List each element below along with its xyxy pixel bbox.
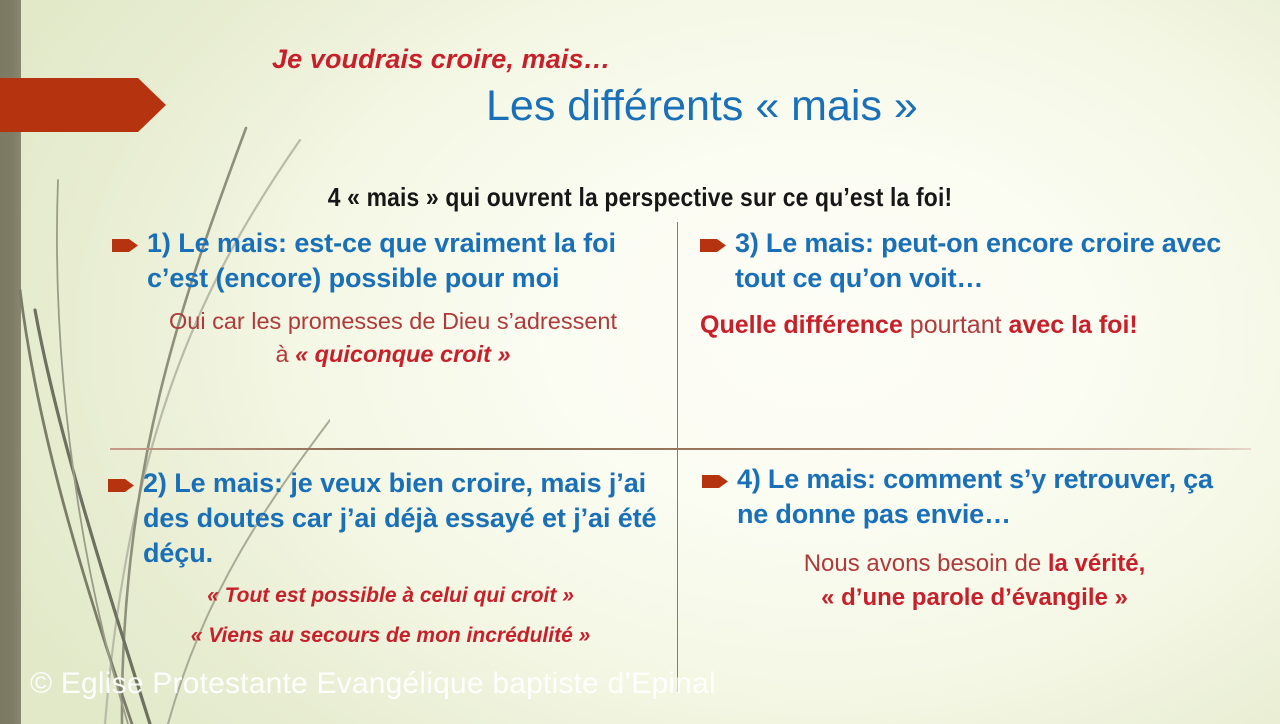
quadrant-1-body-line-1: Oui car les promesses de Dieu s’adressen… <box>114 306 672 337</box>
quadrant-1-heading-row: 1) Le mais: est-ce que vraiment la foi c… <box>112 226 672 296</box>
quadrant-4-body-emphasis: la vérité, <box>1048 550 1145 577</box>
red-pennant-bullet-icon <box>112 238 138 253</box>
quadrant-4-body: Nous avons besoin de la vérité, « d’une … <box>702 548 1247 614</box>
quadrant-1-heading: 1) Le mais: est-ce que vraiment la foi c… <box>147 226 672 296</box>
red-pennant-bullet-icon <box>702 474 728 489</box>
quadrant-4-body-line-1: Nous avons besoin de la vérité, <box>702 548 1247 580</box>
quadrant-3-body-strong-2: avec la foi! <box>1009 311 1138 339</box>
slide-canvas: Je voudrais croire, mais… Les différents… <box>0 0 1280 724</box>
page-title: Les différents « mais » <box>486 82 1170 131</box>
quadrant-2: 2) Le mais: je veux bien croire, mais j’… <box>108 466 673 650</box>
vertical-divider <box>677 222 678 692</box>
quadrant-4-heading-row: 4) Le mais: comment s’y retrouver, ça ne… <box>702 462 1247 532</box>
quadrant-1-body-prefix: à <box>275 341 295 367</box>
quadrant-4-body-prefix: Nous avons besoin de <box>804 550 1048 577</box>
slide-kicker: Je voudrais croire, mais… <box>272 44 1170 75</box>
quadrant-4-heading: 4) Le mais: comment s’y retrouver, ça ne… <box>737 462 1247 532</box>
banner-arrow-icon <box>0 78 166 132</box>
quadrant-3-body: Quelle différence pourtant avec la foi! <box>700 309 1245 342</box>
slide-subtitle: 4 « mais » qui ouvrent la perspective su… <box>77 182 1203 213</box>
quadrant-4: 4) Le mais: comment s’y retrouver, ça ne… <box>702 462 1247 613</box>
quadrant-1-body: Oui car les promesses de Dieu s’adressen… <box>114 306 672 371</box>
quadrant-3-heading: 3) Le mais: peut-on encore croire avec t… <box>735 226 1245 296</box>
quadrant-3-body-strong-1: Quelle différence <box>700 311 903 339</box>
quadrant-3-heading-row: 3) Le mais: peut-on encore croire avec t… <box>700 226 1245 296</box>
quadrant-3: 3) Le mais: peut-on encore croire avec t… <box>700 226 1245 342</box>
red-pennant-bullet-icon <box>700 238 726 253</box>
quadrant-1-body-line-2: à « quiconque croit » <box>114 339 672 370</box>
quadrant-4-body-line-2: « d’une parole d’évangile » <box>702 582 1247 614</box>
quadrant-2-body: « Tout est possible à celui qui croit » … <box>108 582 673 650</box>
quadrant-1: 1) Le mais: est-ce que vraiment la foi c… <box>112 226 672 370</box>
quadrant-1-body-emphasis: « quiconque croit » <box>295 341 510 367</box>
copyright-watermark: © Eglise Protestante Evangélique baptist… <box>30 667 716 701</box>
quadrant-2-heading-row: 2) Le mais: je veux bien croire, mais j’… <box>108 466 673 570</box>
quadrant-2-body-line-2: « Viens au secours de mon incrédulité » <box>108 622 673 650</box>
quadrant-2-heading: 2) Le mais: je veux bien croire, mais j’… <box>143 466 673 570</box>
red-pennant-bullet-icon <box>108 478 134 493</box>
horizontal-divider <box>110 448 1251 450</box>
title-block: Je voudrais croire, mais… Les différents… <box>190 44 1170 131</box>
quadrant-3-body-regular: pourtant <box>903 311 1009 339</box>
quadrant-2-body-line-1: « Tout est possible à celui qui croit » <box>108 582 673 610</box>
